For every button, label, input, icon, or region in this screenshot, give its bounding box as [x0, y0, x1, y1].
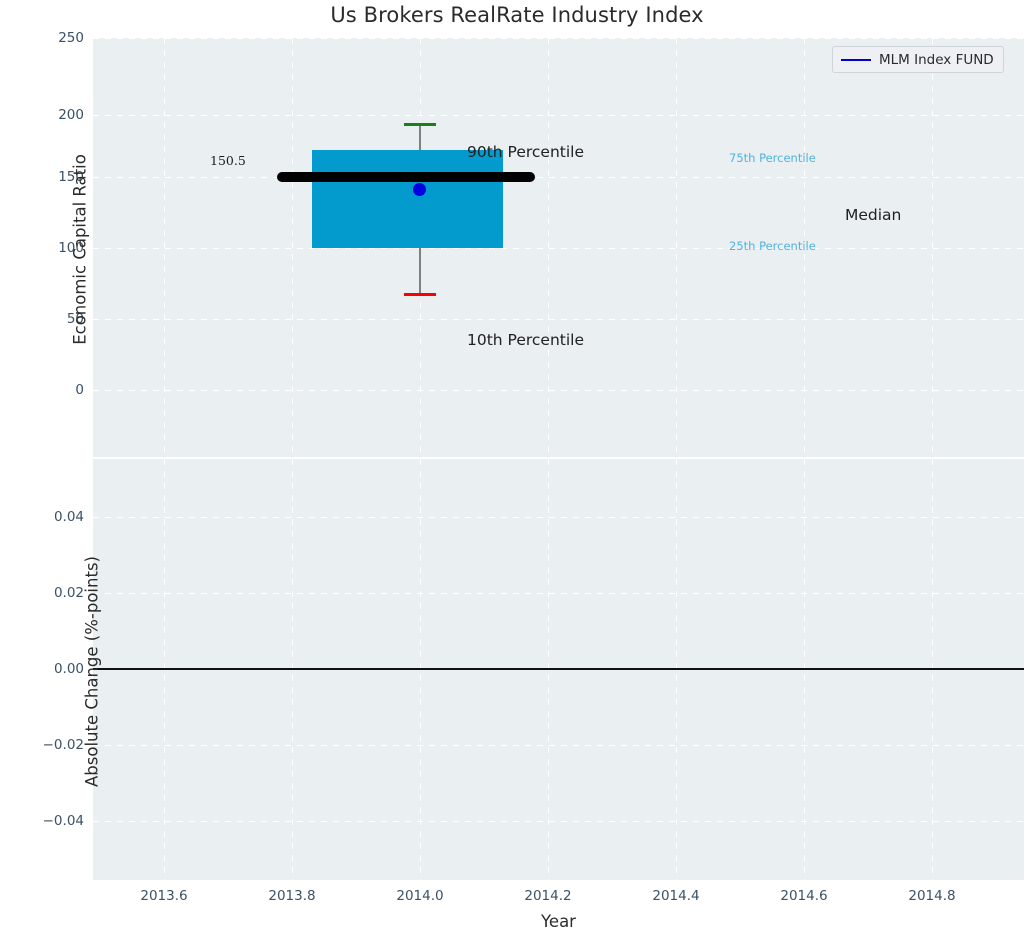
annotation-median-value: 150.5 — [210, 153, 246, 168]
annotation-10th-percentile: 10th Percentile — [467, 331, 584, 349]
gridline-h--0.02 — [93, 745, 1024, 746]
cap-10th-percentile — [404, 293, 436, 296]
y-axis-label-top: Economic Capital Ratio — [71, 90, 90, 410]
gridline-h-0.04 — [93, 517, 1024, 518]
xtick-2014.8: 2014.8 — [908, 888, 955, 904]
annotation-75th-percentile: 75th Percentile — [729, 151, 816, 165]
gridline-h-250 — [93, 38, 1024, 39]
annotation-25th-percentile: 25th Percentile — [729, 239, 816, 253]
box-iqr-range — [312, 150, 503, 248]
plot-panel-absolute-change — [93, 459, 1024, 880]
gridline-h-0.02 — [93, 593, 1024, 594]
plot-panel-economic-capital-ratio: 90th Percentile 10th Percentile Median 7… — [93, 38, 1024, 457]
chart-figure: Us Brokers RealRate Industry Index 90th — [0, 0, 1034, 942]
gridline-h--0.04 — [93, 821, 1024, 822]
legend-entry-label: MLM Index FUND — [879, 52, 994, 68]
gridline-v-2014.8 — [932, 38, 933, 457]
zero-reference-line — [93, 668, 1024, 670]
annotation-90th-percentile: 90th Percentile — [467, 143, 584, 161]
gridline-v-2013.6 — [164, 38, 165, 457]
xtick-2013.6: 2013.6 — [140, 888, 187, 904]
xtick-2014.0: 2014.0 — [396, 888, 443, 904]
ytick-250: 250 — [58, 30, 93, 46]
cap-90th-percentile — [404, 123, 436, 126]
legend-line-icon — [841, 59, 871, 61]
annotation-median: Median — [845, 206, 901, 224]
xtick-2013.8: 2013.8 — [268, 888, 315, 904]
gridline-h-0 — [93, 390, 1024, 391]
gridline-h-150 — [93, 177, 1024, 178]
gridline-h-200 — [93, 115, 1024, 116]
xtick-2014.4: 2014.4 — [652, 888, 699, 904]
median-line — [277, 172, 535, 182]
y-axis-label-bottom: Absolute Change (%-points) — [83, 492, 102, 852]
xtick-2014.6: 2014.6 — [780, 888, 827, 904]
mlm-index-fund-marker — [413, 183, 426, 196]
xtick-2014.2: 2014.2 — [524, 888, 571, 904]
x-axis-label: Year — [93, 912, 1024, 931]
page-title: Us Brokers RealRate Industry Index — [0, 3, 1034, 27]
gridline-v-2014.4 — [676, 38, 677, 457]
gridline-h-100 — [93, 248, 1024, 249]
gridline-v-2013.8 — [292, 38, 293, 457]
gridline-h-50 — [93, 319, 1024, 320]
gridline-v-2014.2 — [548, 38, 549, 457]
legend[interactable]: MLM Index FUND — [832, 46, 1004, 73]
